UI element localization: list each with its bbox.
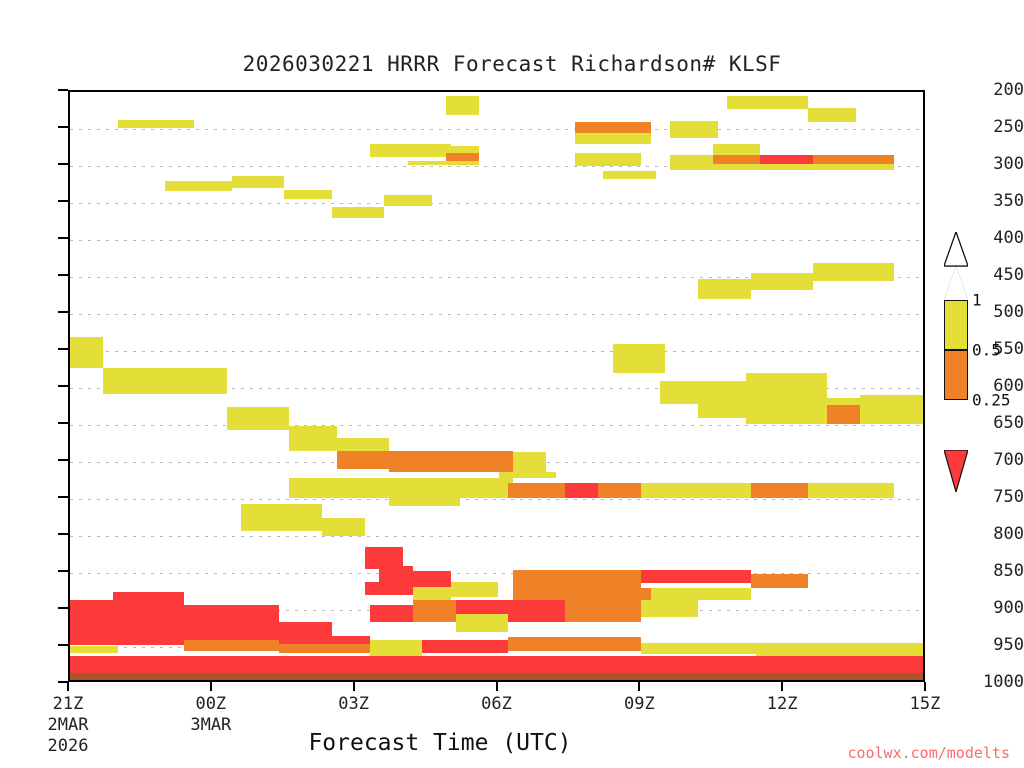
heatmap-cell (760, 155, 812, 164)
x-axis-tick-mark (496, 682, 498, 691)
y-axis-tick-label: 650 (966, 413, 1024, 433)
heatmap-cell (808, 108, 856, 121)
x-axis-tick-label: 09Z (624, 694, 655, 715)
heatmap-cell (322, 518, 365, 537)
heatmap-cell (446, 146, 479, 153)
heatmap-cell (565, 570, 641, 588)
heatmap-cell (813, 263, 894, 281)
colorbar[interactable]: 10.50.25 (944, 300, 968, 450)
y-axis-tick-mark (58, 570, 68, 572)
heatmap-cell (575, 153, 642, 166)
y-axis-tick-mark (58, 163, 68, 165)
heatmap-cell (365, 582, 413, 595)
y-axis-tick-mark (58, 644, 68, 646)
y-axis-tick-label: 200 (966, 80, 1024, 100)
grid-line (70, 351, 923, 352)
heatmap-cell (284, 190, 332, 200)
colorbar-tick-label: 0.5 (972, 341, 1001, 360)
grid-line (70, 314, 923, 315)
heatmap-cell (118, 120, 194, 127)
heatmap-cell (446, 153, 479, 161)
heatmap-cell (70, 646, 118, 653)
colorbar-tick-label: 1 (972, 291, 982, 310)
y-axis-tick-label: 750 (966, 487, 1024, 507)
heatmap-cell (660, 381, 746, 403)
heatmap-cell (422, 640, 508, 653)
grid-line (70, 536, 923, 537)
y-axis-tick-label: 1000 (966, 672, 1024, 692)
heatmap-cell (670, 121, 718, 138)
heatmap-cell (565, 637, 641, 652)
heatmap-cell (289, 426, 337, 450)
heatmap-cell (670, 155, 713, 164)
heatmap-cell (232, 176, 284, 189)
x-axis-tick-label: 12Z (767, 694, 798, 715)
y-axis-tick-label: 700 (966, 450, 1024, 470)
x-axis-tick-mark (210, 682, 212, 691)
y-axis-tick-mark (58, 348, 68, 350)
heatmap-cell (165, 181, 232, 191)
heatmap-cell (513, 588, 651, 600)
heatmap-cell (598, 483, 641, 498)
x-axis-tick-mark (353, 682, 355, 691)
heatmap-cell (808, 483, 894, 498)
heatmap-cell (508, 483, 565, 498)
heatmap-cell (370, 144, 451, 157)
heatmap-cell (499, 472, 556, 479)
y-axis-tick-mark (58, 200, 68, 202)
heatmap-cell (746, 373, 827, 397)
heatmap-cell (575, 122, 651, 132)
y-axis-tick-mark (58, 237, 68, 239)
heatmap-cell (670, 164, 894, 170)
y-axis-tick-mark (58, 385, 68, 387)
x-axis-tick-label: 15Z (910, 694, 941, 715)
credit-watermark: coolwx.com/modelts (847, 744, 1010, 762)
x-axis-tick-mark (638, 682, 640, 691)
colorbar-bottom-arrow (944, 450, 968, 492)
plot-area[interactable] (68, 90, 925, 682)
heatmap-cell (184, 640, 279, 651)
y-axis-tick-mark (58, 607, 68, 609)
grid-line (70, 129, 923, 130)
heatmap-cell (408, 161, 479, 165)
terrain-band (70, 673, 925, 682)
heatmap-cell (379, 566, 412, 582)
colorbar-segment[interactable] (944, 350, 968, 400)
heatmap-cell (70, 656, 925, 673)
y-axis-tick-label: 300 (966, 154, 1024, 174)
y-axis-tick-mark (58, 533, 68, 535)
heatmap-cell (279, 644, 369, 653)
heatmap-cell (641, 570, 751, 583)
heatmap-cell (698, 404, 750, 418)
heatmap-cell (279, 622, 331, 645)
heatmap-cell (613, 344, 665, 374)
heatmap-cell (513, 570, 565, 588)
y-axis-tick-mark (58, 496, 68, 498)
x-axis-tick-mark (781, 682, 783, 691)
heatmap-cell (641, 483, 751, 498)
heatmap-cell (727, 96, 808, 109)
x-axis-title: Forecast Time (UTC) (0, 730, 880, 756)
heatmap-cell (241, 504, 322, 531)
y-axis-tick-mark (58, 89, 68, 91)
y-axis-tick-label: 950 (966, 635, 1024, 655)
heatmap-cell (103, 368, 227, 394)
heatmap-cell (508, 637, 565, 652)
x-axis-tick-mark (67, 682, 69, 691)
heatmap-cell (332, 207, 384, 217)
heatmap-cell (446, 96, 479, 115)
y-axis-tick-label: 400 (966, 228, 1024, 248)
colorbar-tick-label: 0.25 (972, 391, 1011, 410)
heatmap-cell (603, 171, 655, 179)
heatmap-cell (698, 279, 750, 299)
grid-line (70, 240, 923, 241)
grid-line (70, 425, 923, 426)
x-axis-tick-label: 03Z (338, 694, 369, 715)
heatmap-cell (651, 588, 751, 600)
y-axis-tick-mark (58, 311, 68, 313)
heatmap-cell (641, 600, 698, 618)
heatmap-cell (751, 273, 813, 291)
colorbar-segment[interactable] (944, 300, 968, 350)
heatmap-cell (860, 395, 925, 423)
heatmap-cell (751, 483, 808, 498)
colorbar-top-arrow (944, 266, 968, 300)
heatmap-cell (70, 337, 103, 368)
heatmap-cell (370, 605, 413, 622)
y-axis-tick-label: 450 (966, 265, 1024, 285)
heatmap-cell (756, 643, 925, 656)
heatmap-cell (565, 483, 598, 498)
heatmap-cell (227, 407, 289, 431)
heatmap-cell (565, 600, 641, 622)
y-axis-tick-label: 850 (966, 561, 1024, 581)
y-axis-tick-label: 350 (966, 191, 1024, 211)
grid-line (70, 203, 923, 204)
y-axis-tick-label: 900 (966, 598, 1024, 618)
x-axis-tick-label: 06Z (481, 694, 512, 715)
x-axis-tick-mark (924, 682, 926, 691)
heatmap-cell (70, 600, 113, 645)
heatmap-cell (513, 452, 546, 472)
y-axis-tick-mark (58, 422, 68, 424)
heatmap-cell (413, 600, 456, 622)
grid-line (70, 499, 923, 500)
heatmap-cell (751, 574, 808, 587)
chart-page: 2026030221 HRRR Forecast Richardson# KLS… (0, 0, 1024, 768)
heatmap-cell (456, 614, 508, 632)
chart-title: 2026030221 HRRR Forecast Richardson# KLS… (0, 52, 1024, 76)
heatmap-cell (413, 571, 451, 587)
heatmap-cell (456, 600, 508, 615)
heatmap-cell (575, 133, 651, 144)
heatmap-cell (384, 195, 432, 206)
heatmap-cell (713, 144, 761, 155)
y-axis-tick-mark (58, 274, 68, 276)
heatmap-cell (641, 643, 755, 655)
y-axis-tick-mark (58, 459, 68, 461)
y-axis-tick-mark (58, 126, 68, 128)
heatmap-cell (389, 462, 513, 472)
y-axis-tick-label: 800 (966, 524, 1024, 544)
heatmap-cell (451, 582, 499, 598)
y-axis-tick-label: 250 (966, 117, 1024, 137)
heatmap-cell (389, 495, 460, 506)
heatmap-cell (508, 600, 565, 622)
heatmap-cell (113, 592, 184, 645)
